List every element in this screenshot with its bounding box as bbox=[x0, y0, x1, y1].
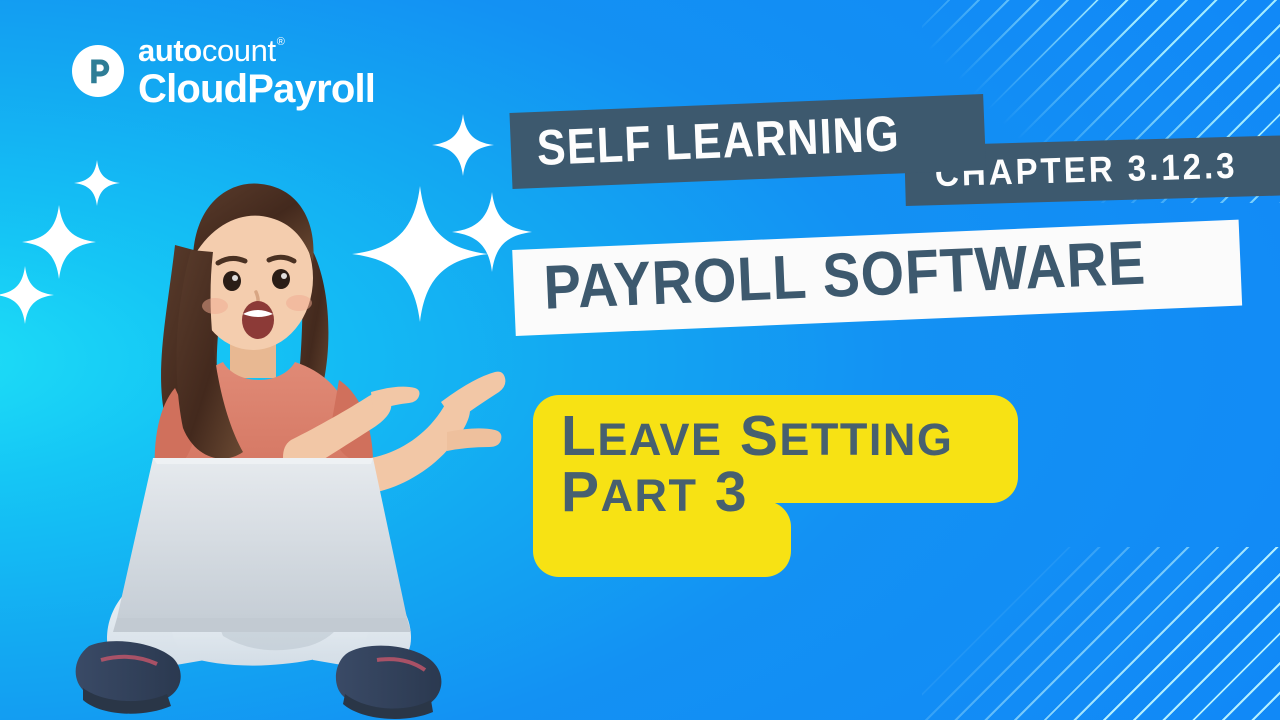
banner-topic-text: LEAVE SETTING PART 3 bbox=[561, 409, 953, 521]
thumbnail-canvas: autocount® CloudPayroll bbox=[0, 0, 1280, 720]
logo-auto: auto bbox=[138, 35, 202, 66]
banner-self-learning-label: SELF LEARNING bbox=[536, 108, 901, 173]
banner-topic: LEAVE SETTING PART 3 bbox=[533, 395, 1018, 577]
registered-mark: ® bbox=[277, 37, 285, 48]
banner-payroll-software: PAYROLL SOFTWARE bbox=[512, 220, 1242, 336]
banner-topic-line-2: PART 3 bbox=[561, 465, 953, 521]
banner-payroll-software-label: PAYROLL SOFTWARE bbox=[543, 233, 1148, 320]
autocount-p-circle-icon bbox=[72, 45, 124, 97]
logo-count: count bbox=[202, 35, 276, 66]
presenter-illustration bbox=[55, 140, 535, 720]
autocount-cloudpayroll-logo: autocount® CloudPayroll bbox=[72, 33, 375, 109]
banner-topic-line-1: LEAVE SETTING bbox=[561, 409, 953, 465]
logo-cloudpayroll-text: CloudPayroll bbox=[138, 69, 375, 109]
sparkle-icon bbox=[0, 266, 54, 324]
logo-wordmark: autocount® CloudPayroll bbox=[138, 33, 375, 109]
logo-autocount-text: autocount® bbox=[138, 35, 375, 66]
